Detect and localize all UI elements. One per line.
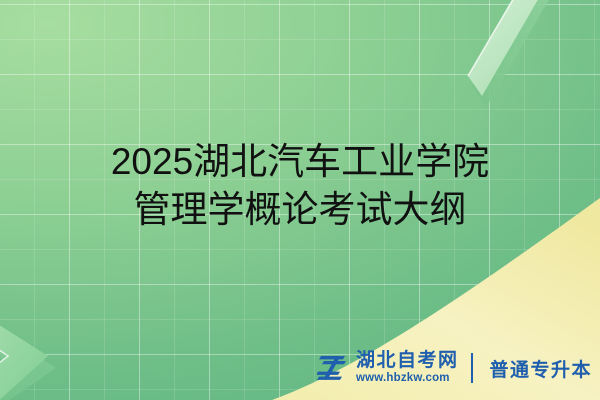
- hbzkw-z-mark-icon: [317, 354, 347, 382]
- poster-canvas: 2025湖北汽车工业学院 管理学概论考试大纲 湖北自考网 www.hbzkw.c…: [0, 0, 600, 400]
- poster-title: 2025湖北汽车工业学院 管理学概论考试大纲: [0, 138, 600, 234]
- brand-logo-bar[interactable]: 湖北自考网 www.hbzkw.com 普通专升本: [317, 348, 592, 388]
- title-line-1: 2025湖北汽车工业学院: [28, 138, 572, 186]
- title-line-2: 管理学概论考试大纲: [28, 186, 572, 234]
- brand-url: www.hbzkw.com: [356, 373, 459, 385]
- brand-name-cn: 湖北自考网: [356, 351, 459, 370]
- brand-tagline: 普通专升本: [489, 355, 592, 382]
- brand-text-block: 湖北自考网 www.hbzkw.com: [356, 351, 459, 385]
- brand-divider: [471, 353, 473, 383]
